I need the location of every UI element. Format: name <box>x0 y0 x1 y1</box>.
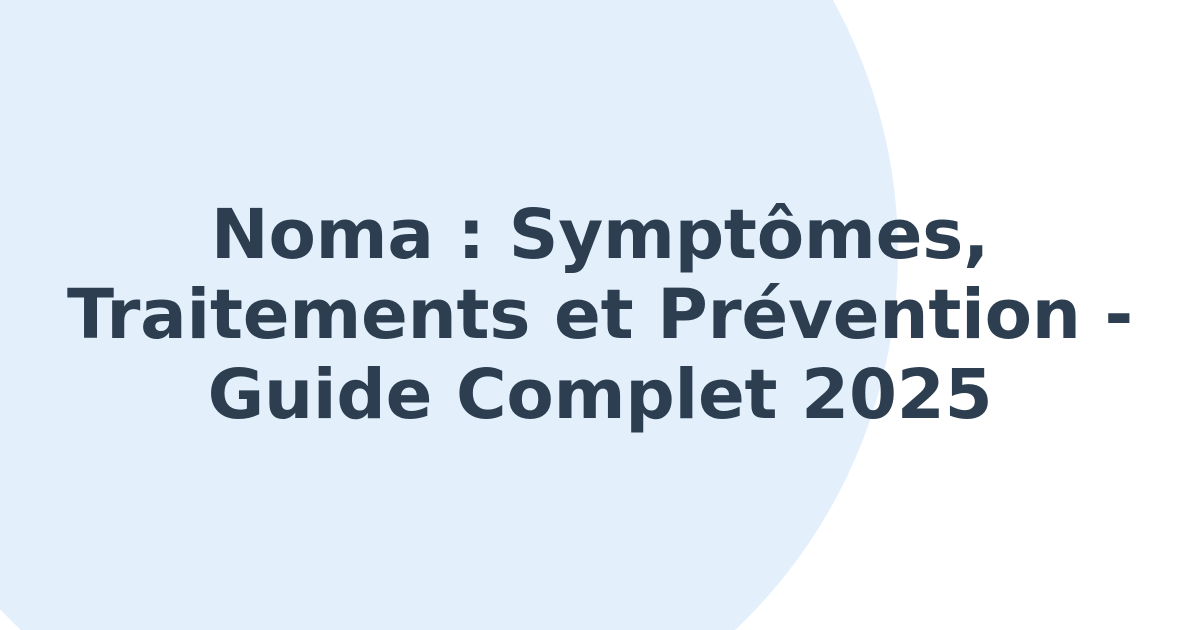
page-title: Noma : Symptômes, Traitements et Prévent… <box>48 195 1152 435</box>
card-content: Noma : Symptômes, Traitements et Prévent… <box>0 0 1200 630</box>
og-image-card: Noma : Symptômes, Traitements et Prévent… <box>0 0 1200 630</box>
